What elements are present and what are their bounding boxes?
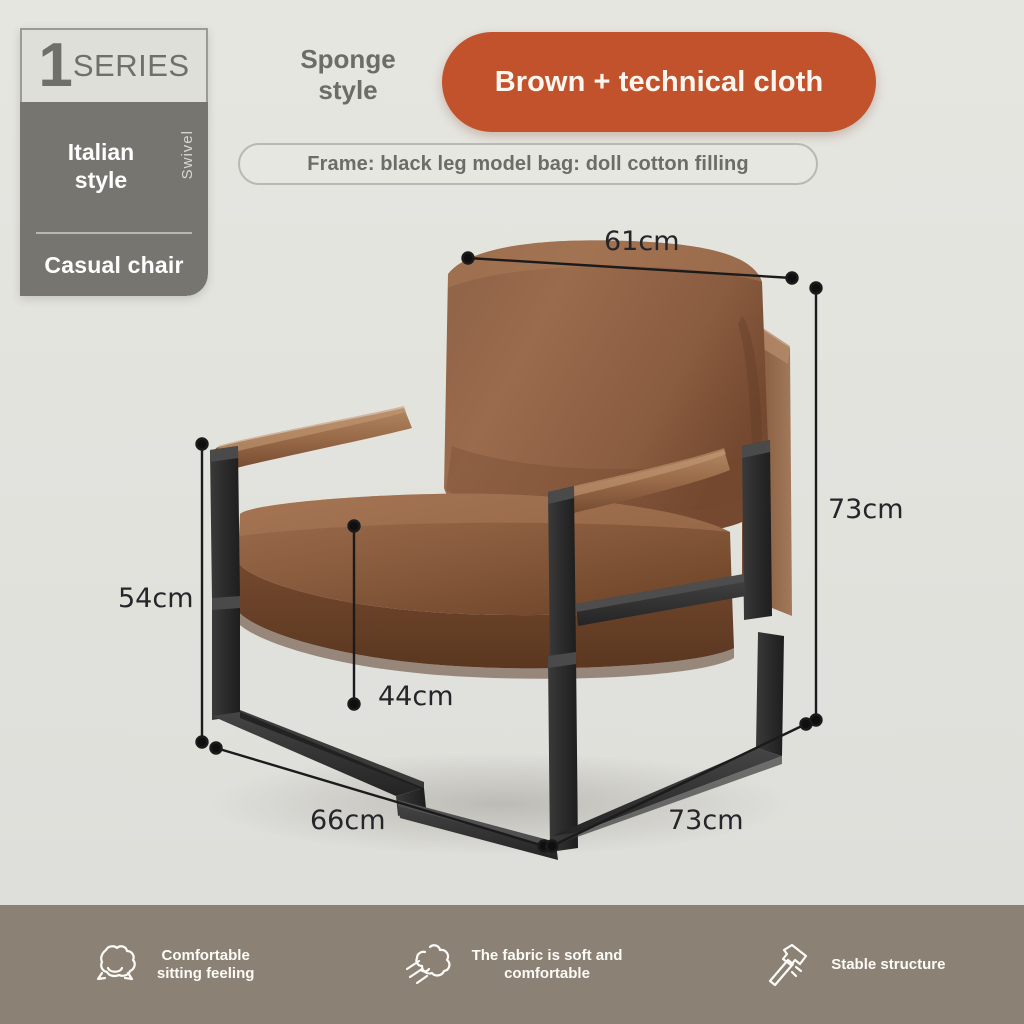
cushion-cloud-icon: [87, 939, 143, 991]
sponge-style-label: Sponge style: [278, 44, 418, 105]
soft-fabric-breeze-icon: [402, 939, 458, 991]
frame-note-pill: Frame: black leg model bag: doll cotton …: [238, 143, 818, 185]
series-number: 1: [38, 39, 70, 92]
feature-item-structure: Stable structure: [683, 939, 1024, 991]
product-image-stage: 1 SERIES Swivel Italian style Casual cha…: [0, 0, 1024, 1024]
feature-label-structure: Stable structure: [831, 956, 945, 974]
dimension-depth-right-label: 73cm: [668, 805, 744, 836]
feature-label-comfort-line2: sitting feeling: [157, 965, 255, 982]
swivel-label: Swivel: [179, 130, 196, 179]
feature-label-comfort: Comfortable sitting feeling: [157, 947, 255, 983]
series-badge-header: 1 SERIES: [20, 28, 208, 102]
hammer-icon: [761, 939, 817, 991]
dimension-seat-height-label: 44cm: [378, 681, 454, 712]
product-illustration: [0, 196, 1024, 896]
style-label: Italian style: [68, 139, 134, 194]
style-label-line1: Italian: [68, 139, 134, 167]
feature-bar: Comfortable sitting feeling The fabric i…: [0, 905, 1024, 1024]
frame-note-label: Frame: black leg model bag: doll cotton …: [307, 153, 748, 176]
dimension-width-label: 61cm: [604, 226, 680, 257]
color-option-badge[interactable]: Brown + technical cloth: [442, 32, 876, 132]
dimension-depth-left-label: 66cm: [310, 805, 386, 836]
feature-label-fabric-line2: comfortable: [504, 965, 590, 982]
chair-drawing: [0, 196, 1024, 896]
feature-label-comfort-line1: Comfortable: [161, 947, 249, 964]
feature-label-fabric-line1: The fabric is soft and: [472, 947, 623, 964]
color-option-label: Brown + technical cloth: [495, 66, 824, 99]
dimension-back-height-label: 54cm: [118, 583, 194, 614]
style-label-line2: style: [68, 167, 134, 195]
feature-item-comfort: Comfortable sitting feeling: [0, 939, 341, 991]
feature-label-fabric: The fabric is soft and comfortable: [472, 947, 623, 983]
feature-item-fabric: The fabric is soft and comfortable: [341, 939, 682, 991]
dimension-total-height-label: 73cm: [828, 494, 904, 525]
sponge-style-line1: Sponge: [278, 44, 418, 75]
series-word: SERIES: [73, 48, 190, 84]
sponge-style-line2: style: [278, 75, 418, 106]
